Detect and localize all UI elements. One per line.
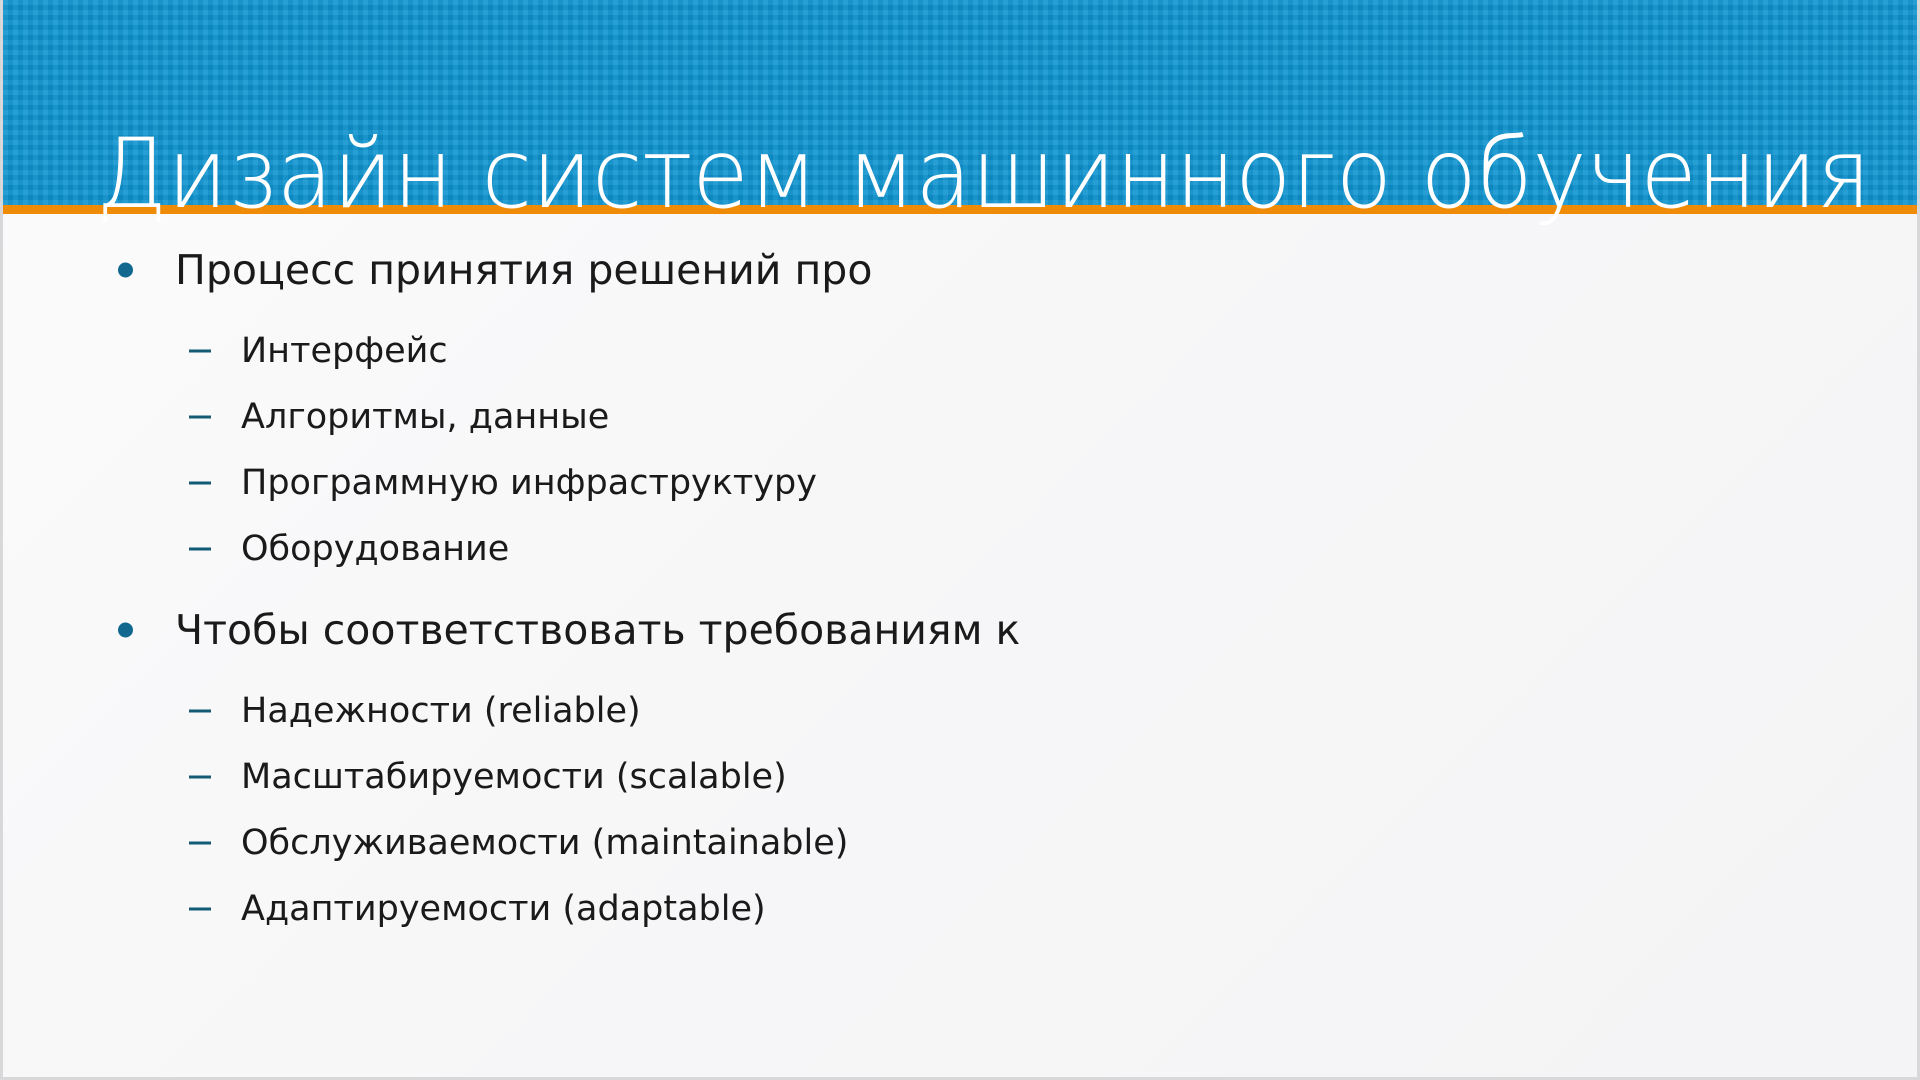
bullet-dot-icon	[118, 623, 133, 638]
list-item-label: Чтобы соответствовать требованиям к	[175, 606, 1020, 654]
list-item: Масштабируемости (scalable)	[3, 744, 1920, 810]
presentation-slide: Дизайн систем машинного обучения Процесс…	[0, 0, 1920, 1080]
list-item: Оборудование	[3, 516, 1920, 582]
list-item-label: Оборудование	[241, 528, 509, 570]
bullet-dash-icon	[189, 548, 211, 551]
list-item-label: Надежности (reliable)	[241, 690, 641, 732]
list-item-label: Масштабируемости (scalable)	[241, 756, 787, 798]
bullet-dash-icon	[189, 842, 211, 845]
list-item-label: Алгоритмы, данные	[241, 396, 609, 438]
list-item: Адаптируемости (adaptable)	[3, 876, 1920, 942]
list-item-label: Адаптируемости (adaptable)	[241, 888, 766, 930]
bullet-dash-icon	[189, 710, 211, 713]
list-item-label: Процесс принятия решений про	[175, 246, 872, 294]
page-title: Дизайн систем машинного обучения	[96, 119, 1824, 229]
list-item: Чтобы соответствовать требованиям к	[3, 594, 1920, 666]
bullet-dash-icon	[189, 776, 211, 779]
list-item-label: Обслуживаемости (maintainable)	[241, 822, 848, 864]
slide-body: Процесс принятия решений про Интерфейс А…	[3, 214, 1920, 1080]
bullet-dash-icon	[189, 350, 211, 353]
list-item: Обслуживаемости (maintainable)	[3, 810, 1920, 876]
bullet-dash-icon	[189, 416, 211, 419]
list-item: Алгоритмы, данные	[3, 384, 1920, 450]
list-item: Процесс принятия решений про	[3, 234, 1920, 306]
bullet-dash-icon	[189, 908, 211, 911]
bullet-dot-icon	[118, 263, 133, 278]
list-item-label: Интерфейс	[241, 330, 448, 372]
list-item: Интерфейс	[3, 318, 1920, 384]
list-item: Программную инфраструктуру	[3, 450, 1920, 516]
bullet-dash-icon	[189, 482, 211, 485]
list-item: Надежности (reliable)	[3, 678, 1920, 744]
list-item-label: Программную инфраструктуру	[241, 462, 817, 504]
outline-list: Процесс принятия решений про Интерфейс А…	[3, 234, 1920, 942]
